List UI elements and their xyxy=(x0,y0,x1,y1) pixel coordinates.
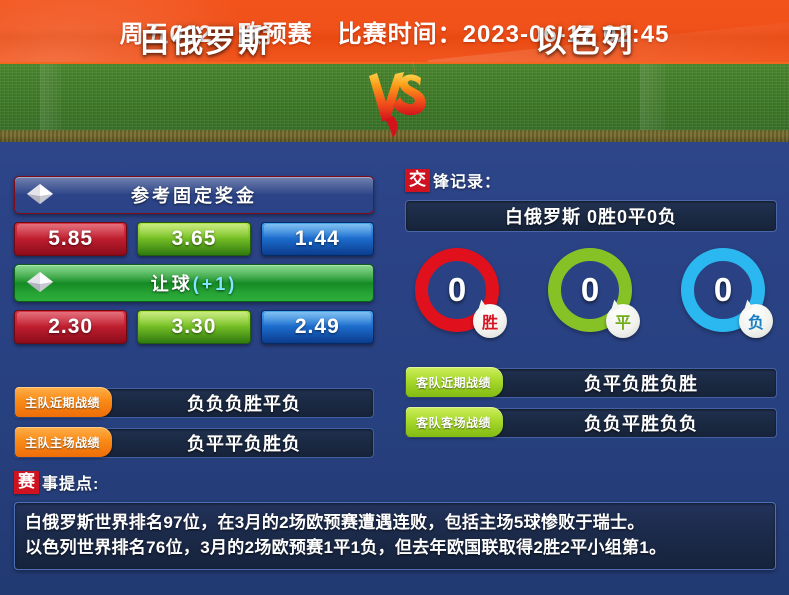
handicap-odd-away-win[interactable]: 2.49 xyxy=(261,310,374,344)
note-section-header: 赛 事提点: xyxy=(14,470,776,494)
note-header-text: 事提点: xyxy=(42,470,99,494)
away-away-form-row: 客队客场战绩 负负平胜负负 xyxy=(405,408,777,438)
h2h-header-text: 锋记录： xyxy=(433,168,501,192)
h2h-header-badge: 交 xyxy=(405,169,430,192)
home-team-name: 白俄罗斯 xyxy=(60,20,350,64)
handicap-banner-text: 让球 xyxy=(151,274,193,294)
h2h-win-badge: 胜 xyxy=(473,304,507,338)
fixed-odds-banner-label: 参考固定奖金 xyxy=(131,182,257,208)
h2h-ring-win: 0 胜 xyxy=(415,248,499,332)
h2h-panel: 交 锋记录： 白俄罗斯 0胜0平0负 0 胜 0 平 0 负 客队近期战绩 xyxy=(405,168,777,438)
away-recent-form-tag: 客队近期战绩 xyxy=(406,367,503,397)
home-home-form-tag: 主队主场战绩 xyxy=(15,427,112,457)
diamond-icon xyxy=(25,180,55,210)
handicap-banner-label: 让球(+1) xyxy=(151,270,238,296)
diamond-icon xyxy=(25,268,55,298)
away-recent-form-row: 客队近期战绩 负平负胜负胜 xyxy=(405,368,777,398)
handicap-odd-draw[interactable]: 3.30 xyxy=(137,310,250,344)
odd-home-win[interactable]: 5.85 xyxy=(14,222,127,256)
h2h-loss-badge: 负 xyxy=(739,304,773,338)
note-header-badge: 赛 xyxy=(14,471,39,494)
h2h-draw-badge: 平 xyxy=(606,304,640,338)
h2h-summary-bar: 白俄罗斯 0胜0平0负 xyxy=(405,200,777,232)
handicap-banner[interactable]: 让球(+1) xyxy=(14,264,374,302)
fixed-odds-banner[interactable]: 参考固定奖金 xyxy=(14,176,374,214)
h2h-rings: 0 胜 0 平 0 负 xyxy=(405,248,777,332)
h2h-ring-draw: 0 平 xyxy=(548,248,632,332)
handicap-odds-row: 2.30 3.30 2.49 xyxy=(14,310,374,344)
note-line-2: 以色列世界排名76位，3月的2场欧预赛1平1负，但去年欧国联取得2胜2平小组第1… xyxy=(25,535,765,560)
odd-away-win[interactable]: 1.44 xyxy=(261,222,374,256)
pitch-banner xyxy=(0,62,789,142)
note-line-1: 白俄罗斯世界排名97位，在3月的2场欧预赛遭遇连败，包括主场5球惨败于瑞士。 xyxy=(25,510,765,535)
h2h-section-header: 交 锋记录： xyxy=(405,168,777,192)
away-team-name: 以色列 xyxy=(440,20,730,64)
note-body: 白俄罗斯世界排名97位，在3月的2场欧预赛遭遇连败，包括主场5球惨败于瑞士。 以… xyxy=(14,502,776,570)
match-note: 赛 事提点: 白俄罗斯世界排名97位，在3月的2场欧预赛遭遇连败，包括主场5球惨… xyxy=(14,470,776,570)
dirt-strip xyxy=(0,130,789,142)
handicap-banner-value: (+1) xyxy=(193,274,238,294)
odd-draw[interactable]: 3.65 xyxy=(137,222,250,256)
home-recent-form-row: 主队近期战绩 负负负胜平负 xyxy=(14,388,374,418)
match-preview-card: 周五002 欧预赛 比赛时间：2023-06-17 02:45 白俄罗斯 以色列 xyxy=(0,0,789,595)
fixed-odds-row: 5.85 3.65 1.44 xyxy=(14,222,374,256)
home-recent-form-tag: 主队近期战绩 xyxy=(15,387,112,417)
h2h-ring-loss: 0 负 xyxy=(681,248,765,332)
handicap-odd-home-win[interactable]: 2.30 xyxy=(14,310,127,344)
away-away-form-tag: 客队客场战绩 xyxy=(406,407,503,437)
odds-panel: 参考固定奖金 5.85 3.65 1.44 让球(+1) 2.30 3.30 2… xyxy=(14,176,374,458)
home-home-form-row: 主队主场战绩 负平平负胜负 xyxy=(14,428,374,458)
